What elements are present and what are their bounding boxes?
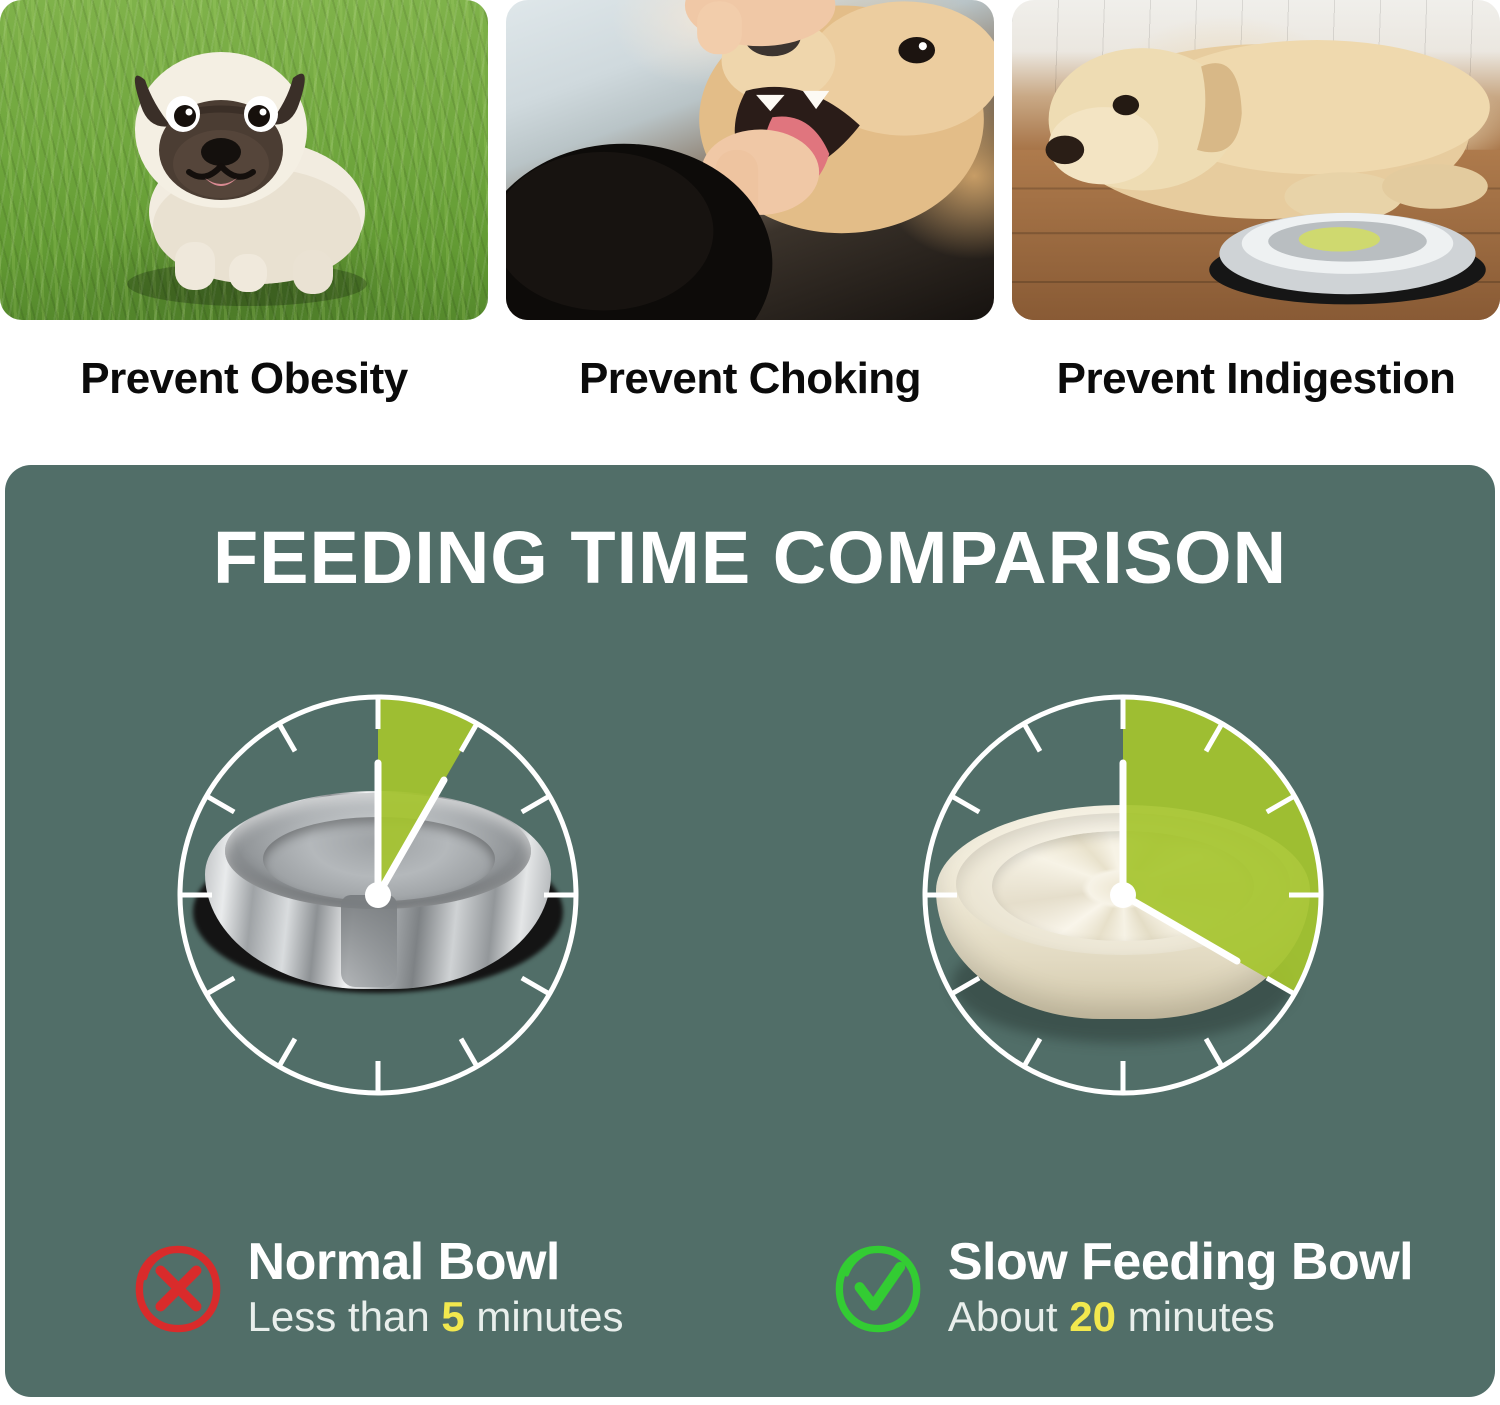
choking-dog-illustration	[506, 0, 994, 320]
clock-dial-normal-bowl	[163, 655, 593, 1125]
label-column-normal-bowl: Normal Bowl Less than 5 minutes	[5, 1235, 750, 1342]
dial-center-hub	[1110, 882, 1136, 908]
gauges-row	[5, 655, 1495, 1155]
dial-center-hub	[365, 882, 391, 908]
benefit-caption-indigestion: Prevent Indigestion	[1057, 354, 1456, 404]
subtitle-value: 5	[441, 1293, 464, 1340]
subtitle-suffix: minutes	[476, 1293, 623, 1340]
pug-dog-illustration	[79, 22, 409, 320]
comparison-subtitle-normal-bowl: Less than 5 minutes	[248, 1292, 624, 1342]
cross-circle-icon	[132, 1243, 224, 1335]
comparison-labels-row: Normal Bowl Less than 5 minutes	[5, 1235, 1495, 1342]
gauge-column-slow-feeding-bowl	[750, 655, 1495, 1155]
panel-title: FEEDING TIME COMPARISON	[5, 515, 1495, 600]
photo-indigestion	[1012, 0, 1500, 320]
gauge-column-normal-bowl	[5, 655, 750, 1155]
comparison-title-normal-bowl: Normal Bowl	[248, 1235, 624, 1290]
label-column-slow-feeding-bowl: Slow Feeding Bowl About 20 minutes	[750, 1235, 1495, 1342]
gauge-normal-bowl	[163, 655, 593, 1125]
benefit-caption-choking: Prevent Choking	[579, 354, 921, 404]
comparison-title-slow-feeding-bowl: Slow Feeding Bowl	[948, 1235, 1413, 1290]
product-infographic: Prevent Obesity	[0, 0, 1500, 1405]
benefit-card-indigestion: Prevent Indigestion	[1012, 0, 1500, 420]
benefits-row: Prevent Obesity	[0, 0, 1500, 420]
gauge-slow-feeding-bowl	[908, 655, 1338, 1125]
photo-choking	[506, 0, 994, 320]
benefit-card-choking: Prevent Choking	[506, 0, 994, 420]
clock-dial-slow-feeding-bowl	[908, 655, 1338, 1125]
subtitle-prefix: Less than	[248, 1293, 430, 1340]
subtitle-prefix: About	[948, 1293, 1058, 1340]
indigestion-dog-illustration	[1012, 0, 1500, 320]
benefit-card-obesity: Prevent Obesity	[0, 0, 488, 420]
subtitle-value: 20	[1069, 1293, 1116, 1340]
benefit-caption-obesity: Prevent Obesity	[80, 354, 408, 404]
subtitle-suffix: minutes	[1128, 1293, 1275, 1340]
photo-obesity	[0, 0, 488, 320]
check-circle-icon	[832, 1243, 924, 1335]
comparison-subtitle-slow-feeding-bowl: About 20 minutes	[948, 1292, 1413, 1342]
feeding-time-comparison-panel: FEEDING TIME COMPARISON	[5, 465, 1495, 1397]
